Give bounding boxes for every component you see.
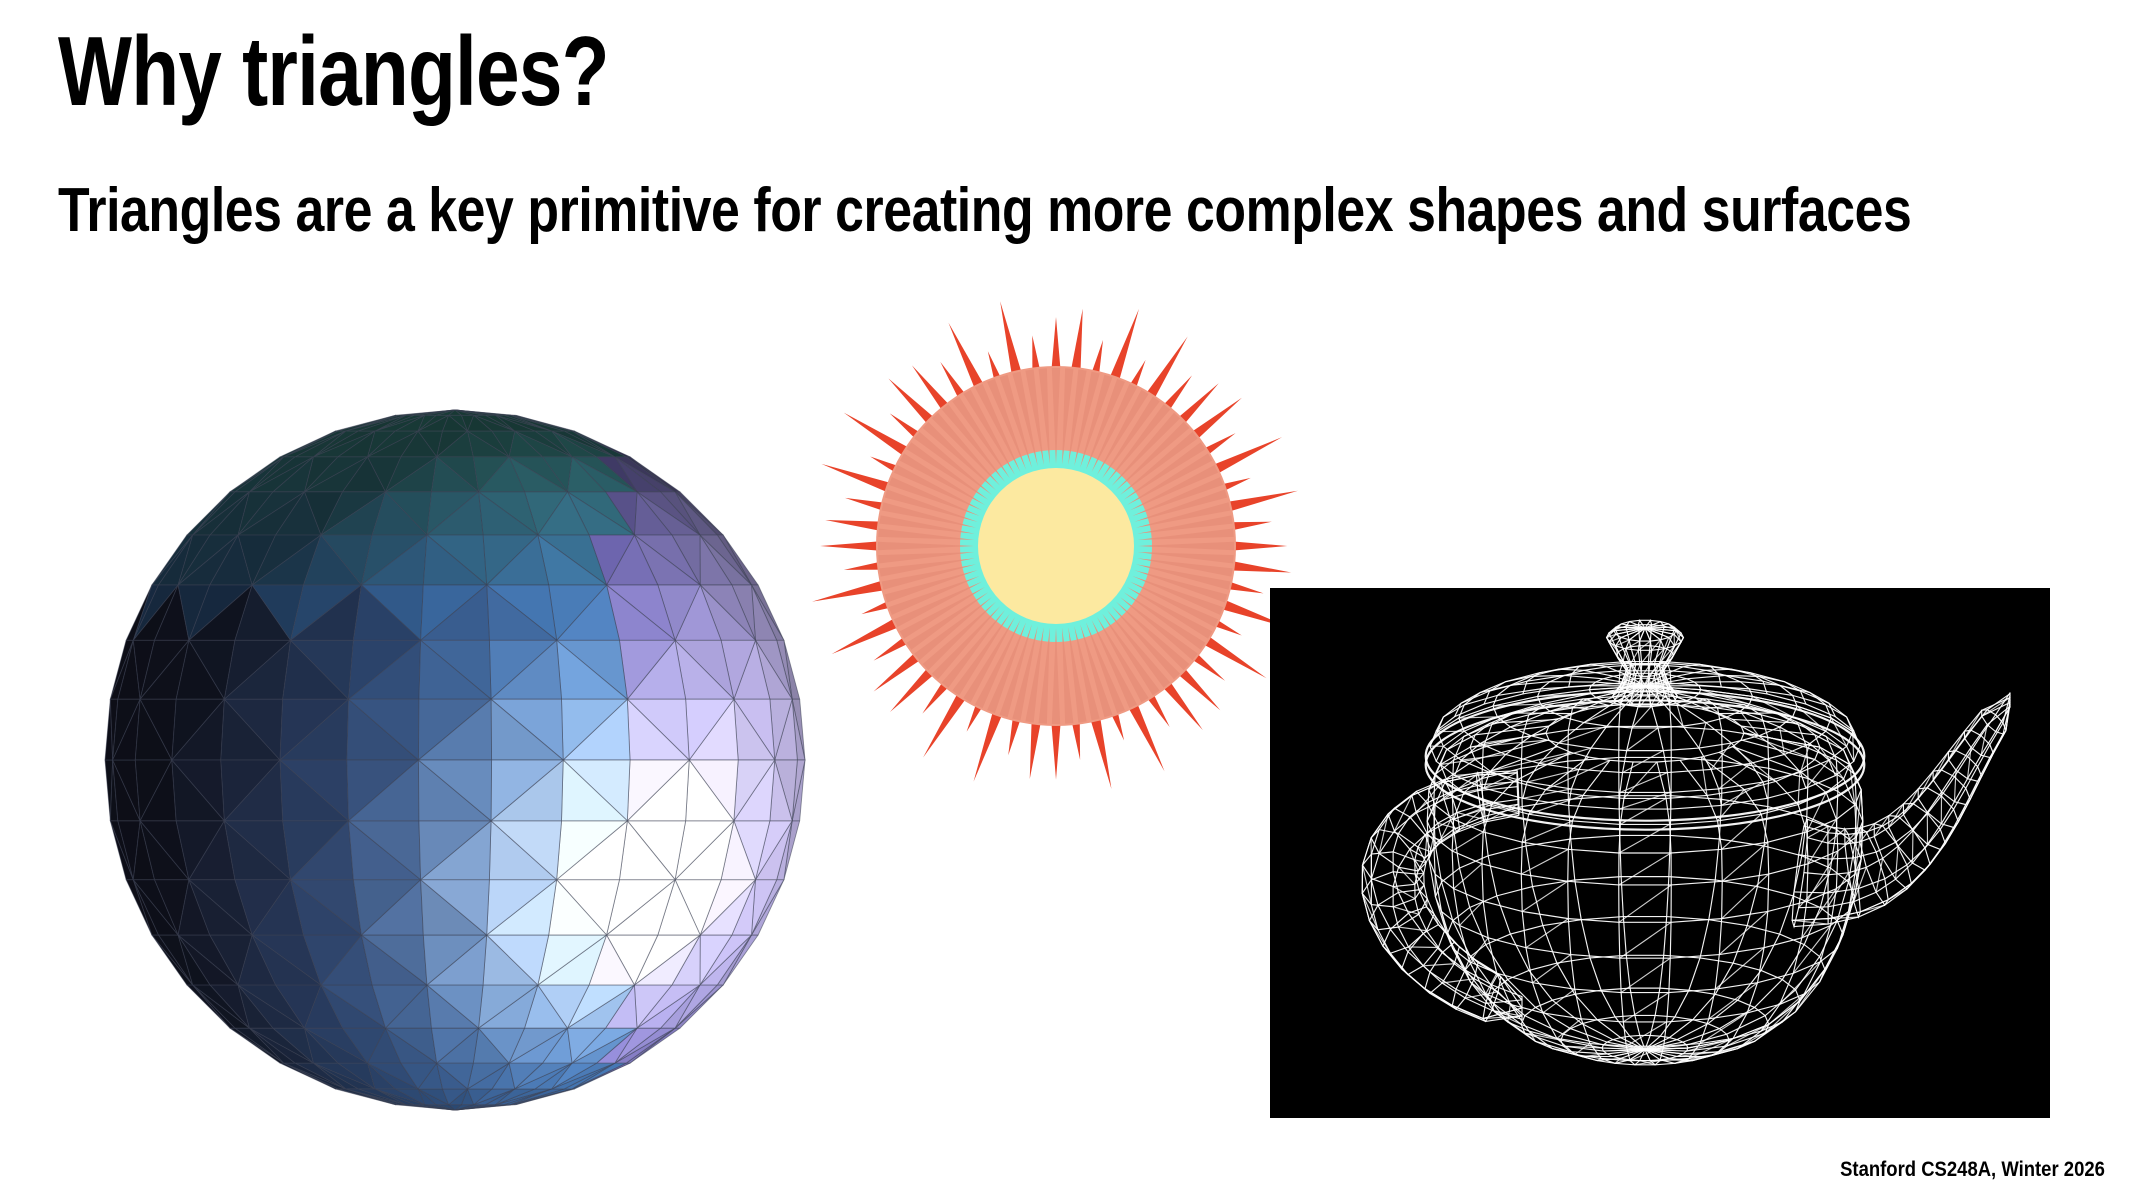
utah-teapot-wireframe-figure [1270,588,2050,1118]
page-subtitle: Triangles are a key primitive for creati… [58,180,1911,242]
slide-footer: Stanford CS248A, Winter 2026 [1840,1158,2105,1182]
sunburst-group [812,301,1298,789]
triangle-sunburst-figure [825,315,1287,777]
triangle-sunburst-image [825,315,1287,777]
triangulated-sphere-figure [100,400,810,1120]
sphere-mesh [105,410,805,1110]
triangulated-sphere-image [100,400,810,1120]
sun-core [978,468,1134,624]
slide-canvas: Why triangles? Triangles are a key primi… [0,0,2133,1200]
utah-teapot-wireframe-image [1270,588,2050,1118]
page-title: Why triangles? [58,22,609,120]
